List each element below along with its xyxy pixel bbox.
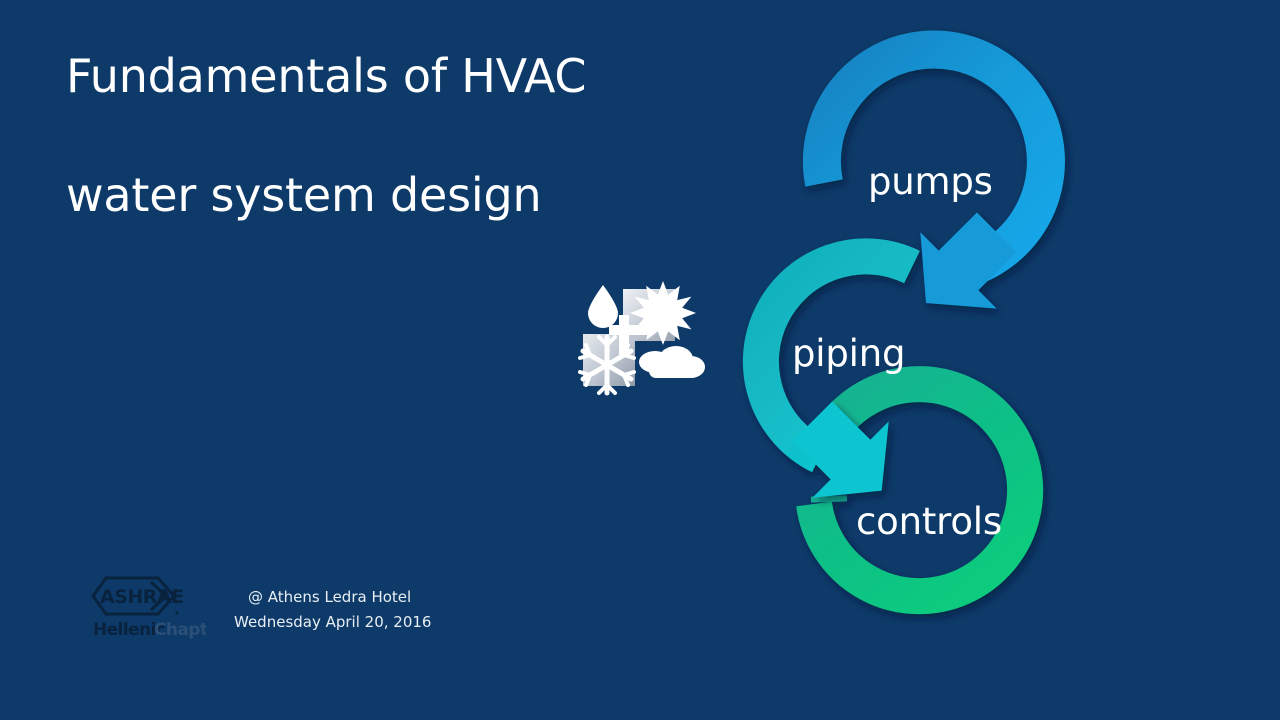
cycle-label-pumps: pumps xyxy=(868,160,993,203)
event-date: Wednesday April 20, 2016 xyxy=(234,610,431,635)
ashrae-hellenic-chapter-logo: ASHRAE Hellenic Chapter xyxy=(90,575,206,643)
hvac-cycle-diagram: pumps piping controls xyxy=(700,28,1100,678)
event-details: @ Athens Ledra Hotel Wednesday April 20,… xyxy=(234,585,431,635)
cycle-label-controls: controls xyxy=(856,500,1002,543)
title-line-primary: Fundamentals of HVAC xyxy=(66,52,706,101)
title-line-secondary: water system design xyxy=(66,171,706,220)
cloud-icon xyxy=(639,346,705,378)
slide-footer: ASHRAE Hellenic Chapter @ Athens Ledra H… xyxy=(90,575,431,643)
cycle-label-piping: piping xyxy=(792,332,905,375)
hvac-weather-icon-cluster xyxy=(575,275,715,400)
ashrae-wordmark: ASHRAE xyxy=(100,586,184,608)
event-venue: @ Athens Ledra Hotel xyxy=(234,585,431,610)
water-droplet-icon xyxy=(588,285,618,328)
page-title: Fundamentals of HVAC water system design xyxy=(66,52,706,220)
presentation-slide: Fundamentals of HVAC water system design xyxy=(0,0,1280,720)
ashrae-chapter-light: Chapter xyxy=(154,620,206,640)
